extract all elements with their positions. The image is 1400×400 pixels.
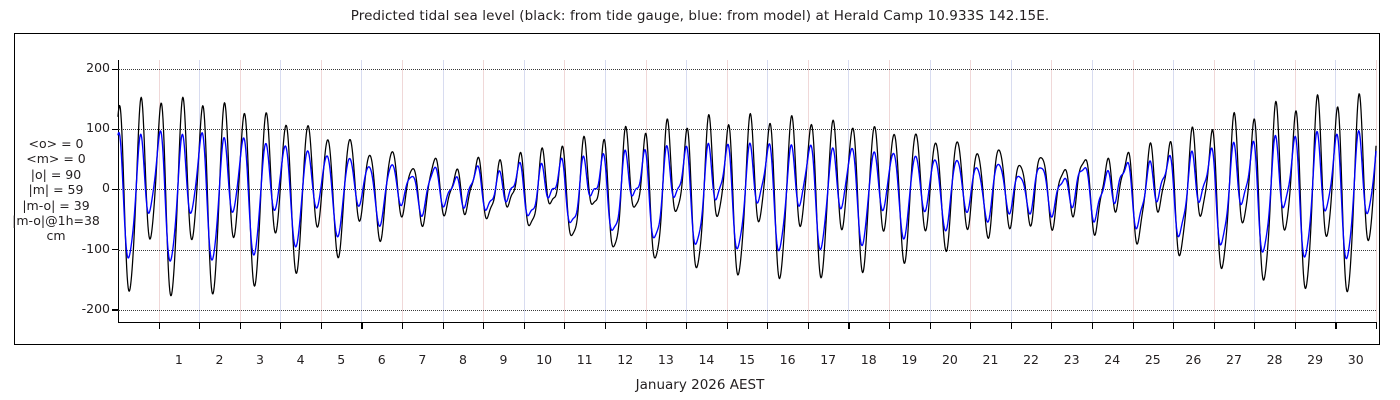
- y-tick-label: 200: [86, 60, 110, 75]
- x-axis-label-day-6: 6: [378, 352, 386, 367]
- x-axis-label-day-28: 28: [1267, 352, 1283, 367]
- x-tick-day-4: [280, 322, 281, 329]
- x-tick-day-30: [1335, 322, 1336, 329]
- x-axis-label-day-13: 13: [658, 352, 674, 367]
- x-tick-day-7: [402, 322, 403, 329]
- x-axis-label-day-16: 16: [780, 352, 796, 367]
- x-axis-label-day-5: 5: [337, 352, 345, 367]
- x-axis-label-day-1: 1: [175, 352, 183, 367]
- x-tick-day-25: [1133, 322, 1134, 329]
- x-tick-day-26: [1173, 322, 1174, 329]
- statistic-line-2: |o| = 90: [4, 167, 108, 182]
- x-tick-day-1: [159, 322, 160, 329]
- chart-page: Predicted tidal sea level (black: from t…: [0, 0, 1400, 400]
- x-tick-day-9: [483, 322, 484, 329]
- x-tick-day-17: [808, 322, 809, 329]
- x-tick-day-16: [767, 322, 768, 329]
- x-tick-day-28: [1254, 322, 1255, 329]
- x-tick-day-6: [361, 322, 362, 329]
- tide-curves: [118, 60, 1376, 322]
- x-axis-label-day-22: 22: [1023, 352, 1039, 367]
- x-axis-label-day-2: 2: [215, 352, 223, 367]
- x-axis-line: [118, 322, 1376, 323]
- x-tick-day-14: [686, 322, 687, 329]
- x-axis-label-day-27: 27: [1226, 352, 1242, 367]
- x-tick-day-8: [443, 322, 444, 329]
- x-axis-label-day-9: 9: [500, 352, 508, 367]
- x-axis-label-day-24: 24: [1104, 352, 1120, 367]
- x-axis-label-day-18: 18: [861, 352, 877, 367]
- statistic-line-4: |m-o| = 39: [4, 198, 108, 213]
- x-tick-day-27: [1214, 322, 1215, 329]
- x-tick-day-23: [1051, 322, 1052, 329]
- y-tick-label: -100: [82, 241, 110, 256]
- x-axis-label-day-14: 14: [698, 352, 714, 367]
- x-tick-day-5: [321, 322, 322, 329]
- statistic-line-3: |m| = 59: [4, 182, 108, 197]
- x-tick-day-3: [240, 322, 241, 329]
- x-axis-label-day-30: 30: [1348, 352, 1364, 367]
- x-axis-label-day-10: 10: [536, 352, 552, 367]
- x-tick-day-19: [889, 322, 890, 329]
- x-tick-day-31: [1376, 322, 1377, 329]
- x-tick-day-13: [646, 322, 647, 329]
- y-tick-label: -200: [82, 301, 110, 316]
- x-tick-day-24: [1092, 322, 1093, 329]
- x-axis-label-day-19: 19: [901, 352, 917, 367]
- x-tick-day-22: [1011, 322, 1012, 329]
- x-axis-label-day-20: 20: [942, 352, 958, 367]
- x-axis-title: January 2026 AEST: [0, 377, 1400, 393]
- statistic-line-0: <o> = 0: [4, 136, 108, 151]
- x-axis-label-day-15: 15: [739, 352, 755, 367]
- y-tick-label: 0: [102, 180, 110, 195]
- x-axis-label-day-3: 3: [256, 352, 264, 367]
- x-axis-label-day-12: 12: [617, 352, 633, 367]
- x-axis-label-day-4: 4: [297, 352, 305, 367]
- x-axis-label-day-26: 26: [1185, 352, 1201, 367]
- x-axis-label-day-7: 7: [418, 352, 426, 367]
- x-tick-day-11: [564, 322, 565, 329]
- chart-title: Predicted tidal sea level (black: from t…: [0, 8, 1400, 24]
- x-tick-day-2: [199, 322, 200, 329]
- x-axis-label-day-17: 17: [820, 352, 836, 367]
- x-axis-label-day-23: 23: [1064, 352, 1080, 367]
- x-tick-day-20: [930, 322, 931, 329]
- statistic-line-5: |m-o|@1h=38: [4, 213, 108, 228]
- x-axis-label-day-11: 11: [577, 352, 593, 367]
- x-tick-day-29: [1295, 322, 1296, 329]
- x-tick-day-10: [524, 322, 525, 329]
- x-axis-label-day-25: 25: [1145, 352, 1161, 367]
- x-tick-day-12: [605, 322, 606, 329]
- y-tick-label: 100: [86, 120, 110, 135]
- x-axis-label-day-8: 8: [459, 352, 467, 367]
- x-axis-label-day-21: 21: [983, 352, 999, 367]
- x-axis-label-day-29: 29: [1307, 352, 1323, 367]
- x-tick-day-18: [848, 322, 849, 329]
- plot-area: 2001000-100-200: [118, 60, 1376, 322]
- vertical-gridline-day-31: [1376, 60, 1377, 322]
- statistic-line-1: <m> = 0: [4, 151, 108, 166]
- x-tick-day-15: [727, 322, 728, 329]
- statistics-block: <o> = 0<m> = 0|o| = 90|m| = 59|m-o| = 39…: [4, 136, 108, 244]
- x-tick-day-21: [970, 322, 971, 329]
